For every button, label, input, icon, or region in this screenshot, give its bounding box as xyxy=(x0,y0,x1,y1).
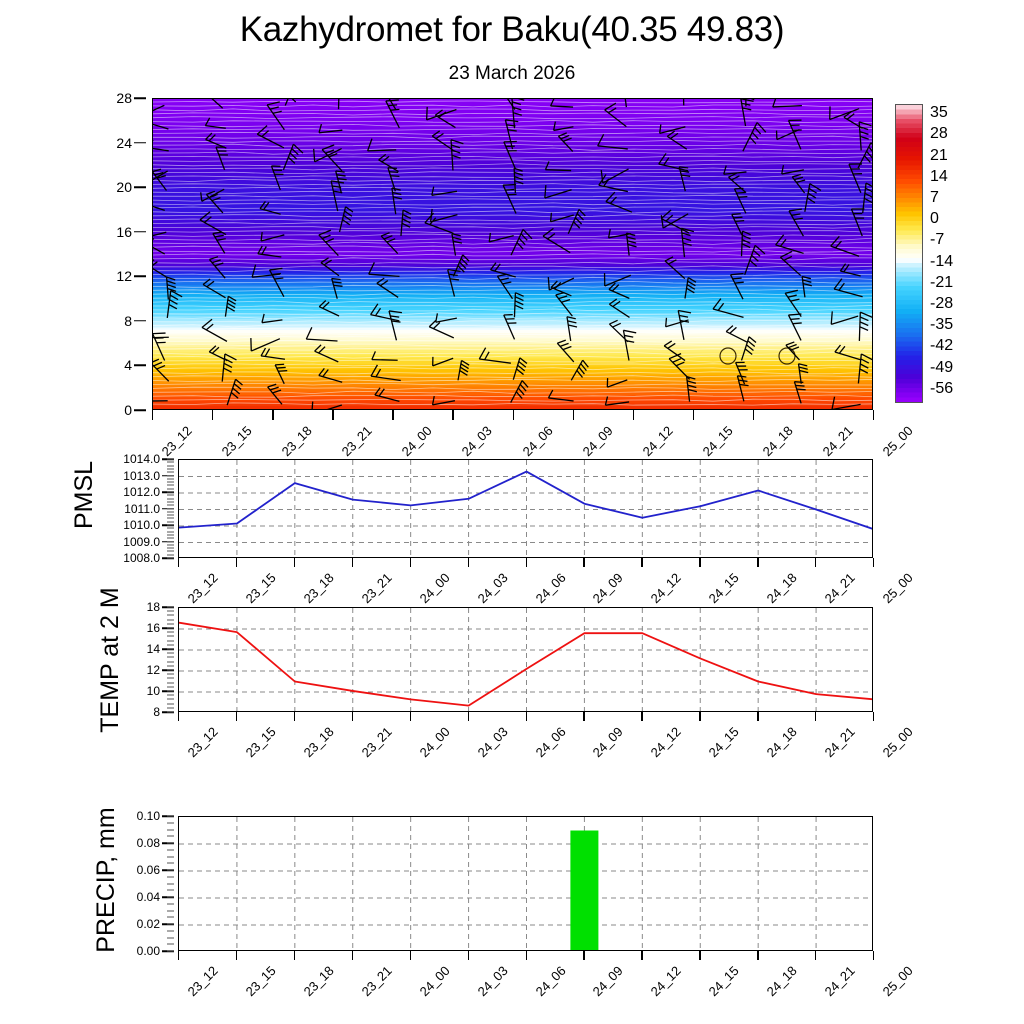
y-tick-minor xyxy=(167,521,174,522)
pmsl-panel[interactable] xyxy=(178,459,873,558)
y-tick-minor xyxy=(167,897,174,898)
x-tick-label: 23_18 xyxy=(279,423,315,459)
x-tick-label: 25_00 xyxy=(880,963,916,999)
x-tick-mark xyxy=(410,558,411,567)
x-tick-label: 23_18 xyxy=(300,570,336,606)
colorbar-tick-label: 35 xyxy=(930,104,948,122)
y-tick-minor xyxy=(167,829,174,830)
y-tick-minor xyxy=(167,623,174,624)
y-tick-minor xyxy=(167,544,174,545)
x-tick-label: 24_18 xyxy=(764,963,800,999)
x-tick-label: 24_12 xyxy=(639,423,675,459)
x-tick-label: 24_09 xyxy=(590,963,626,999)
y-tick-label: 0.04 xyxy=(137,890,160,904)
y-tick-minor xyxy=(167,863,174,864)
y-tick-label: 0.00 xyxy=(137,944,160,958)
colorbar-tick-label: -49 xyxy=(930,359,953,377)
y-tick-minor xyxy=(167,870,174,871)
x-tick-label: 23_21 xyxy=(358,570,394,606)
y-tick-minor xyxy=(167,508,174,509)
x-tick-label: 24_00 xyxy=(399,423,435,459)
y-tick-minor xyxy=(167,836,174,837)
x-tick-mark xyxy=(236,712,237,721)
y-tick-minor xyxy=(167,944,174,945)
x-tick-mark xyxy=(526,712,527,721)
y-tick-label: 20 xyxy=(116,179,132,195)
x-tick-mark xyxy=(452,410,453,420)
y-tick-minor xyxy=(167,903,174,904)
x-tick-mark xyxy=(236,558,237,567)
y-tick-label: 18 xyxy=(147,600,160,614)
y-tick-minor xyxy=(167,462,174,463)
x-tick-label: 23_18 xyxy=(300,963,336,999)
y-tick-label: 1010.0 xyxy=(123,518,160,532)
y-tick-minor xyxy=(167,674,174,675)
pmsl-axis-label: PMSL xyxy=(69,435,99,555)
y-tick-minor xyxy=(167,511,174,512)
x-tick-label: 23_12 xyxy=(185,570,221,606)
wind-barb-overlay xyxy=(153,99,873,410)
main-x-axis: 23_1223_1523_1823_2124_0024_0324_0624_09… xyxy=(152,410,873,460)
x-tick-mark xyxy=(392,410,393,420)
y-tick-minor xyxy=(167,501,174,502)
y-tick-minor xyxy=(167,951,174,952)
y-tick-mark xyxy=(134,186,146,188)
y-tick-minor xyxy=(167,649,174,650)
temp-x-axis: 23_1223_1523_1823_2124_0024_0324_0624_09… xyxy=(178,712,873,757)
x-tick-mark xyxy=(526,951,527,960)
y-tick-minor xyxy=(167,703,174,704)
y-tick-label: 1012.0 xyxy=(123,485,160,499)
x-tick-mark xyxy=(873,558,874,567)
x-tick-mark xyxy=(152,410,153,420)
y-tick-mark xyxy=(134,276,146,278)
y-tick-minor xyxy=(167,707,174,708)
colorbar-tick-label: -56 xyxy=(930,380,953,398)
x-tick-mark xyxy=(352,951,353,960)
x-tick-label: 24_09 xyxy=(579,423,615,459)
y-tick-minor xyxy=(167,488,174,489)
y-tick-minor xyxy=(167,478,174,479)
colorbar-tick-label: 21 xyxy=(930,147,948,165)
y-tick-minor xyxy=(167,525,174,526)
x-tick-label: 24_12 xyxy=(648,570,684,606)
y-tick-minor xyxy=(167,712,174,713)
x-tick-label: 23_15 xyxy=(219,423,255,459)
x-tick-label: 24_03 xyxy=(474,724,510,760)
y-tick-minor xyxy=(167,619,174,620)
y-tick-mark xyxy=(134,97,146,99)
colorbar-tick-label: -28 xyxy=(930,295,953,313)
x-tick-mark xyxy=(693,410,694,420)
y-tick-minor xyxy=(167,924,174,925)
x-tick-mark xyxy=(873,410,874,420)
x-tick-label: 23_21 xyxy=(358,963,394,999)
colorbar-tick-label: -35 xyxy=(930,316,953,334)
temp-y-axis: 81012141618 xyxy=(110,607,174,712)
precip-y-axis: 0.000.020.040.060.080.10 xyxy=(104,816,174,951)
x-tick-mark xyxy=(468,712,469,721)
y-tick-minor xyxy=(167,686,174,687)
x-tick-mark xyxy=(753,410,754,420)
y-tick-label: 16 xyxy=(116,224,132,240)
x-tick-label: 24_00 xyxy=(416,570,452,606)
y-tick-label: 8 xyxy=(153,705,160,719)
x-tick-mark xyxy=(513,410,514,420)
colorbar-tick-label: -21 xyxy=(930,274,953,292)
colorbar-tick-label: -14 xyxy=(930,253,953,271)
x-tick-label: 24_15 xyxy=(699,423,735,459)
x-tick-mark xyxy=(294,712,295,721)
x-tick-label: 23_18 xyxy=(300,724,336,760)
y-tick-label: 12 xyxy=(147,663,160,677)
y-tick-minor xyxy=(167,475,174,476)
y-tick-label: 1014.0 xyxy=(123,452,160,466)
x-tick-mark xyxy=(294,951,295,960)
x-tick-label: 24_03 xyxy=(474,570,510,606)
y-tick-minor xyxy=(167,558,174,559)
y-tick-minor xyxy=(167,876,174,877)
x-tick-mark xyxy=(468,558,469,567)
x-tick-label: 23_21 xyxy=(339,423,375,459)
y-tick-minor xyxy=(167,678,174,679)
y-tick-label: 0.10 xyxy=(137,809,160,823)
x-tick-label: 24_00 xyxy=(416,724,452,760)
y-tick-minor xyxy=(167,515,174,516)
y-tick-label: 28 xyxy=(116,90,132,106)
x-tick-label: 24_09 xyxy=(590,570,626,606)
x-tick-label: 23_21 xyxy=(358,724,394,760)
x-tick-mark xyxy=(873,712,874,721)
y-tick-minor xyxy=(167,554,174,555)
y-tick-label: 10 xyxy=(147,684,160,698)
y-tick-minor xyxy=(167,465,174,466)
x-tick-mark xyxy=(641,951,642,960)
x-tick-label: 25_00 xyxy=(880,724,916,760)
y-tick-minor xyxy=(167,498,174,499)
x-tick-mark xyxy=(699,712,700,721)
y-tick-minor xyxy=(167,541,174,542)
x-tick-mark xyxy=(468,951,469,960)
page-subtitle: 23 March 2026 xyxy=(0,63,1024,85)
y-tick-minor xyxy=(167,528,174,529)
x-tick-mark xyxy=(633,410,634,420)
x-tick-label: 24_00 xyxy=(416,963,452,999)
precip-x-axis: 23_1223_1523_1823_2124_0024_0324_0624_09… xyxy=(178,951,873,996)
y-tick-minor xyxy=(167,636,174,637)
x-tick-label: 24_03 xyxy=(474,963,510,999)
x-tick-mark xyxy=(815,951,816,960)
x-tick-mark xyxy=(410,951,411,960)
x-tick-label: 24_21 xyxy=(822,724,858,760)
x-tick-label: 24_06 xyxy=(532,570,568,606)
y-tick-minor xyxy=(167,849,174,850)
x-tick-mark xyxy=(583,712,584,721)
x-tick-mark xyxy=(178,558,179,567)
y-tick-label: 0 xyxy=(124,402,132,418)
y-tick-label: 8 xyxy=(124,313,132,329)
x-tick-label: 24_06 xyxy=(532,963,568,999)
y-tick-minor xyxy=(167,607,174,608)
x-tick-label: 24_12 xyxy=(648,963,684,999)
pmsl-x-axis: 23_1223_1523_1823_2124_0024_0324_0624_09… xyxy=(178,558,873,603)
y-tick-minor xyxy=(167,890,174,891)
x-tick-label: 23_15 xyxy=(242,963,278,999)
y-tick-minor xyxy=(167,822,174,823)
x-tick-mark xyxy=(641,558,642,567)
y-tick-minor xyxy=(167,682,174,683)
x-tick-mark xyxy=(583,558,584,567)
x-tick-mark xyxy=(699,951,700,960)
x-tick-label: 23_15 xyxy=(242,570,278,606)
x-tick-label: 24_18 xyxy=(764,570,800,606)
y-tick-minor xyxy=(167,816,174,817)
temperature-colorbar xyxy=(895,104,923,403)
y-tick-minor xyxy=(167,459,174,460)
y-tick-label: 1009.0 xyxy=(123,535,160,549)
y-tick-minor xyxy=(167,551,174,552)
upper-air-cross-section-panel[interactable] xyxy=(152,98,873,410)
y-tick-minor xyxy=(167,485,174,486)
x-tick-mark xyxy=(272,410,273,420)
precip-panel[interactable] xyxy=(178,816,873,951)
y-tick-minor xyxy=(167,856,174,857)
x-tick-label: 24_18 xyxy=(764,724,800,760)
y-tick-mark xyxy=(134,231,146,233)
x-tick-mark xyxy=(352,558,353,567)
y-tick-minor xyxy=(167,937,174,938)
x-tick-label: 24_06 xyxy=(519,423,555,459)
x-tick-label: 24_18 xyxy=(759,423,795,459)
y-tick-minor xyxy=(167,518,174,519)
y-tick-minor xyxy=(167,468,174,469)
y-tick-minor xyxy=(167,628,174,629)
y-tick-label: 0.02 xyxy=(137,917,160,931)
y-tick-minor xyxy=(167,548,174,549)
x-tick-mark xyxy=(236,951,237,960)
x-tick-mark xyxy=(757,951,758,960)
y-tick-minor xyxy=(167,661,174,662)
y-tick-minor xyxy=(167,495,174,496)
x-tick-label: 24_21 xyxy=(822,570,858,606)
y-tick-mark xyxy=(134,409,146,411)
x-tick-mark xyxy=(212,410,213,420)
y-tick-minor xyxy=(167,695,174,696)
y-tick-minor xyxy=(167,534,174,535)
colorbar-tick-label: 14 xyxy=(930,168,948,186)
y-tick-minor xyxy=(167,472,174,473)
x-tick-mark xyxy=(294,558,295,567)
colorbar-tick-label: -7 xyxy=(930,231,944,249)
x-tick-mark xyxy=(757,558,758,567)
y-tick-minor xyxy=(167,653,174,654)
y-tick-minor xyxy=(167,531,174,532)
colorbar-tick-label: 28 xyxy=(930,125,948,143)
y-tick-mark xyxy=(134,142,146,144)
y-tick-minor xyxy=(167,670,174,671)
y-tick-label: 4 xyxy=(124,357,132,373)
y-tick-minor xyxy=(167,632,174,633)
y-tick-label: 1013.0 xyxy=(123,469,160,483)
x-tick-label: 23_12 xyxy=(185,963,221,999)
x-tick-label: 24_15 xyxy=(706,570,742,606)
y-tick-minor xyxy=(167,910,174,911)
y-tick-minor xyxy=(167,657,174,658)
x-tick-label: 24_15 xyxy=(706,963,742,999)
colorbar-tick-label: 7 xyxy=(930,189,939,207)
x-tick-label: 24_03 xyxy=(459,423,495,459)
y-tick-minor xyxy=(167,611,174,612)
x-tick-mark xyxy=(178,712,179,721)
y-tick-minor xyxy=(167,930,174,931)
x-tick-mark xyxy=(332,410,333,420)
y-tick-minor xyxy=(167,883,174,884)
y-tick-mark xyxy=(134,365,146,367)
x-tick-label: 24_21 xyxy=(819,423,855,459)
y-tick-minor xyxy=(167,482,174,483)
y-tick-minor xyxy=(167,644,174,645)
x-tick-label: 23_12 xyxy=(159,423,195,459)
y-tick-minor xyxy=(167,640,174,641)
y-tick-label: 0.06 xyxy=(137,863,160,877)
x-tick-label: 24_21 xyxy=(822,963,858,999)
colorbar-tick-label: 0 xyxy=(930,210,939,228)
pmsl-y-axis: 1008.01009.01010.01011.01012.01013.01014… xyxy=(104,459,174,558)
x-tick-mark xyxy=(757,712,758,721)
y-tick-label: 1011.0 xyxy=(124,502,160,516)
y-tick-label: 24 xyxy=(116,135,132,151)
y-tick-minor xyxy=(167,843,174,844)
x-tick-label: 25_00 xyxy=(880,570,916,606)
x-tick-label: 24_09 xyxy=(590,724,626,760)
y-tick-minor xyxy=(167,917,174,918)
y-tick-minor xyxy=(167,665,174,666)
temp-panel[interactable] xyxy=(178,607,873,712)
y-tick-label: 12 xyxy=(116,268,132,284)
x-tick-mark xyxy=(410,712,411,721)
x-tick-label: 24_12 xyxy=(648,724,684,760)
main-y-axis: 0481216202428 xyxy=(100,98,146,410)
x-tick-label: 25_00 xyxy=(880,423,916,459)
y-tick-minor xyxy=(167,492,174,493)
x-tick-mark xyxy=(583,951,584,960)
y-tick-mark xyxy=(134,320,146,322)
x-tick-mark xyxy=(526,558,527,567)
y-tick-label: 1008.0 xyxy=(123,551,160,565)
x-tick-mark xyxy=(641,712,642,721)
x-tick-mark xyxy=(178,951,179,960)
y-tick-label: 16 xyxy=(147,621,160,635)
page-title: Kazhydromet for Baku(40.35 49.83) xyxy=(0,10,1024,50)
y-tick-minor xyxy=(167,691,174,692)
y-tick-minor xyxy=(167,699,174,700)
x-tick-mark xyxy=(813,410,814,420)
x-tick-label: 24_06 xyxy=(532,724,568,760)
x-tick-mark xyxy=(699,558,700,567)
x-tick-mark xyxy=(815,712,816,721)
y-tick-label: 14 xyxy=(147,642,160,656)
x-tick-label: 23_15 xyxy=(242,724,278,760)
colorbar-tick-label: -42 xyxy=(930,337,953,355)
x-tick-label: 24_15 xyxy=(706,724,742,760)
x-tick-mark xyxy=(573,410,574,420)
y-tick-minor xyxy=(167,505,174,506)
y-tick-minor xyxy=(167,615,174,616)
x-tick-mark xyxy=(352,712,353,721)
x-tick-label: 23_12 xyxy=(185,724,221,760)
x-tick-mark xyxy=(873,951,874,960)
y-tick-label: 0.08 xyxy=(137,836,160,850)
x-tick-mark xyxy=(815,558,816,567)
y-tick-minor xyxy=(167,538,174,539)
